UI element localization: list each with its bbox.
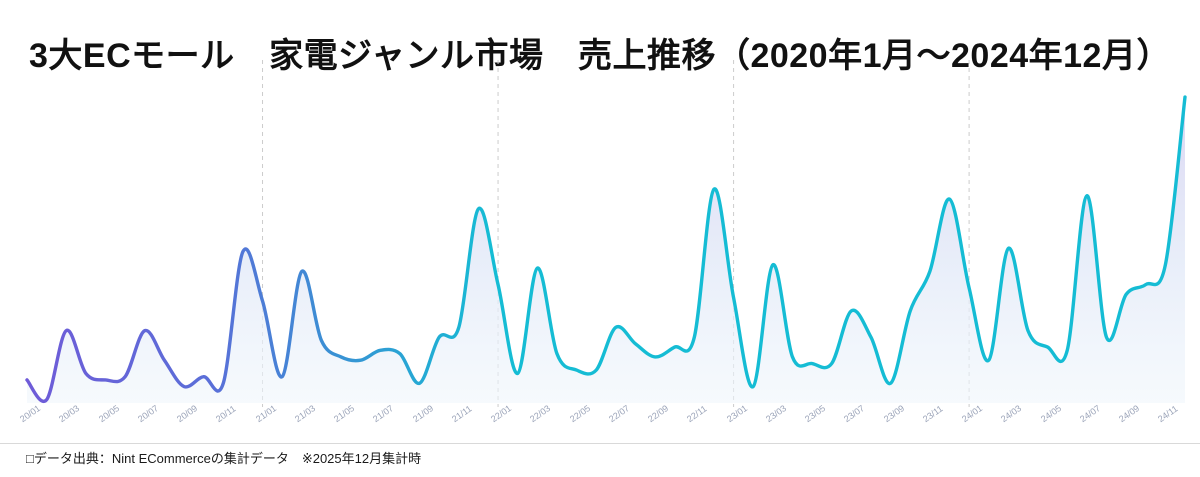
chart-page: 3大ECモール 家電ジャンル市場 売上推移（2020年1月〜2024年12月）: [0, 0, 1200, 477]
chart-plot-area: [0, 60, 1200, 410]
data-source-note: □データ出典：Nint ECommerceの集計データ ※2025年12月集計時: [26, 448, 421, 467]
footer-divider: [0, 443, 1200, 444]
x-axis-tick-labels: 20/0120/0320/0520/0720/0920/1121/0121/03…: [0, 408, 1200, 442]
area-chart-svg: [0, 60, 1200, 410]
